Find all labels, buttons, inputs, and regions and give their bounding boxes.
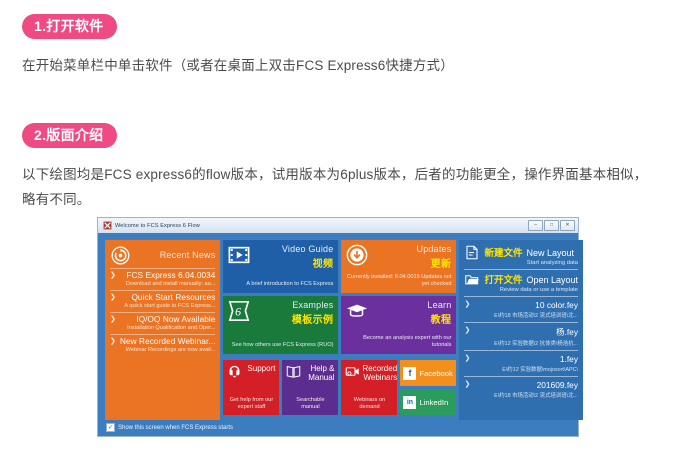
facebook-icon: f bbox=[403, 367, 416, 380]
actions-and-recent-files-panel: 新建文件 New Layout Start analyzing data bbox=[459, 240, 583, 420]
news-item-subtitle: Installation Qualification and Oper... bbox=[110, 325, 215, 331]
section-1-paragraph: 在开始菜单栏中单击软件（或者在桌面上双击FCS Express6快捷方式） bbox=[22, 53, 653, 79]
recent-file-name: 1.fey bbox=[473, 354, 578, 364]
recent-file-item[interactable]: ❯ 201609.fey E\约18 市场活动\2 流式培训班\北... bbox=[464, 378, 578, 401]
support-tile[interactable]: Support Get help from our expert staff bbox=[223, 360, 279, 415]
fcs-express-welcome-window: Welcome to FCS Express 6 Flow – □ ✕ bbox=[97, 217, 579, 437]
embedded-screenshot: Welcome to FCS Express 6 Flow – □ ✕ bbox=[97, 217, 579, 437]
welcome-screen-body: Recent News ❯ FCS Express 6.04.0034 Down… bbox=[98, 233, 578, 436]
examples-tile[interactable]: 6 Examples 模板示例 See how others use FCS E… bbox=[223, 296, 338, 354]
open-folder-icon bbox=[464, 272, 480, 287]
recent-file-path: E\约18 市场活动\2 流式培训班\北... bbox=[464, 391, 578, 399]
section-2-paragraph: 以下绘图均是FCS express6的flow版本，试用版本为6plus版本，后… bbox=[22, 162, 653, 213]
spacer bbox=[22, 79, 653, 123]
updates-learn-column: Updates 更新 Currently installed: 6.04.001… bbox=[341, 240, 456, 420]
linkedin-icon: in bbox=[403, 396, 416, 409]
section-2-badge: 2.版面介绍 bbox=[22, 123, 117, 148]
help-manual-description: Searchable manual bbox=[286, 397, 334, 412]
show-on-startup-checkbox[interactable]: ✓ bbox=[106, 423, 115, 432]
window-controls[interactable]: – □ ✕ bbox=[528, 220, 575, 231]
video-guide-description: A brief introduction to FCS Express bbox=[228, 281, 333, 289]
updates-label-cn: 更新 bbox=[368, 255, 451, 270]
headset-icon bbox=[227, 364, 242, 379]
updates-description: Currently installed: 6.04.0015 Updates n… bbox=[346, 274, 451, 289]
section-1-badge: 1.打开软件 bbox=[22, 14, 117, 39]
download-circle-icon bbox=[346, 244, 368, 266]
news-list-item[interactable]: ❯ FCS Express 6.04.0034 Download and ins… bbox=[110, 268, 215, 290]
recent-file-item[interactable]: ❯ 杨.fey E\约12 实验数据\2 抗体类\杨浩抗... bbox=[464, 324, 578, 349]
social-links: f Facebook in LinkedIn bbox=[400, 360, 456, 415]
section-1-heading: 1.打开软件 bbox=[22, 14, 653, 39]
news-item-title: IQ/OQ Now Available bbox=[120, 315, 215, 324]
news-item-subtitle: Download and install manually: au... bbox=[110, 281, 215, 287]
show-on-startup-row[interactable]: ✓ Show this screen when FCS Express star… bbox=[105, 420, 571, 433]
learn-tile[interactable]: Learn 教程 Become an analysis expert with … bbox=[341, 296, 456, 354]
news-list-item[interactable]: ❯ Quick Start Resources A quick start gu… bbox=[110, 290, 215, 312]
news-item-subtitle: A quick start guide to FCS Express... bbox=[110, 303, 215, 309]
divider bbox=[464, 322, 578, 323]
book-icon bbox=[286, 364, 301, 379]
news-item-subtitle: Webinar Recordings are now avail... bbox=[110, 347, 215, 353]
chevron-right-icon: ❯ bbox=[464, 300, 473, 309]
recent-file-name: 10 color.fey bbox=[473, 300, 578, 310]
divider bbox=[464, 296, 578, 297]
examples-description: See how others use FCS Express (RUO) bbox=[228, 342, 333, 350]
video-camera-icon bbox=[345, 364, 360, 379]
actions-panel-column: 新建文件 New Layout Start analyzing data bbox=[459, 240, 583, 420]
recent-news-title: Recent News bbox=[160, 250, 216, 260]
tile-area: Recent News ❯ FCS Express 6.04.0034 Down… bbox=[105, 240, 571, 420]
news-list-item[interactable]: ❯ IQ/OQ Now Available Installation Quali… bbox=[110, 312, 215, 334]
window-titlebar: Welcome to FCS Express 6 Flow – □ ✕ bbox=[98, 218, 578, 233]
new-layout-action[interactable]: 新建文件 New Layout Start analyzing data bbox=[464, 244, 578, 268]
news-list-item[interactable]: ❯ New Recorded Webinar... Webinar Record… bbox=[110, 334, 215, 356]
news-item-title: New Recorded Webinar... bbox=[120, 337, 215, 346]
recent-file-name: 201609.fey bbox=[473, 380, 578, 390]
close-button[interactable]: ✕ bbox=[560, 220, 575, 231]
updates-tile[interactable]: Updates 更新 Currently installed: 6.04.001… bbox=[341, 240, 456, 293]
support-description: Get help from our expert staff bbox=[227, 397, 275, 412]
section-2-heading: 2.版面介绍 bbox=[22, 123, 653, 148]
open-layout-label-en: Open Layout bbox=[526, 275, 578, 285]
updates-label-en: Updates bbox=[368, 244, 451, 254]
recorded-webinars-label: Recorded Webinars bbox=[362, 364, 397, 382]
examples-label-cn: 模板示例 bbox=[250, 311, 333, 326]
chevron-right-icon: ❯ bbox=[464, 354, 473, 363]
new-layout-label-en: New Layout bbox=[526, 248, 574, 258]
recent-file-path: E\约12 实验数据\mojosort\APC\ bbox=[464, 365, 578, 373]
news-item-title: Quick Start Resources bbox=[120, 293, 215, 302]
recent-news-column: Recent News ❯ FCS Express 6.04.0034 Down… bbox=[105, 240, 220, 420]
support-help-row: Support Get help from our expert staff bbox=[223, 360, 338, 415]
recent-file-path: E\约12 实验数据\2 抗体类\杨浩抗... bbox=[464, 339, 578, 347]
divider bbox=[464, 350, 578, 351]
recorded-webinars-tile[interactable]: Recorded Webinars Webinars on demand bbox=[341, 360, 397, 415]
window-title: Welcome to FCS Express 6 Flow bbox=[115, 223, 200, 229]
six-badge-icon: 6 bbox=[228, 300, 250, 322]
open-layout-label-cn: 打开文件 bbox=[484, 272, 522, 286]
app-icon bbox=[103, 221, 112, 230]
chevron-right-icon: ❯ bbox=[110, 337, 120, 346]
facebook-label: Facebook bbox=[419, 369, 452, 378]
recent-file-name: 杨.fey bbox=[473, 326, 578, 338]
video-guide-label-en: Video Guide bbox=[250, 244, 333, 254]
chevron-right-icon: ❯ bbox=[464, 326, 473, 335]
maximize-button[interactable]: □ bbox=[544, 220, 559, 231]
learn-description: Become an analysis expert with our tutor… bbox=[346, 335, 451, 350]
learn-label-en: Learn bbox=[368, 300, 451, 310]
webinars-social-row: Recorded Webinars Webinars on demand f F… bbox=[341, 360, 456, 415]
help-manual-label: Help & Manual bbox=[303, 364, 334, 382]
chevron-right-icon: ❯ bbox=[110, 271, 120, 280]
video-guide-tile[interactable]: Video Guide 视频 A brief introduction to F… bbox=[223, 240, 338, 293]
show-on-startup-label: Show this screen when FCS Express starts bbox=[118, 425, 233, 431]
open-layout-action[interactable]: 打开文件 Open Layout Review data or use a te… bbox=[464, 271, 578, 295]
linkedin-label: LinkedIn bbox=[419, 398, 448, 407]
chevron-right-icon: ❯ bbox=[110, 315, 120, 324]
new-document-icon bbox=[464, 245, 480, 260]
video-guide-label-cn: 视频 bbox=[250, 255, 333, 270]
svg-text:6: 6 bbox=[236, 305, 242, 319]
examples-label-en: Examples bbox=[250, 300, 333, 310]
recent-file-item[interactable]: ❯ 10 color.fey E\约18 市场活动\2 流式培训班\北... bbox=[464, 298, 578, 321]
refresh-icon bbox=[111, 246, 130, 265]
chevron-right-icon: ❯ bbox=[464, 380, 473, 389]
open-layout-subtitle: Review data or use a template bbox=[484, 287, 578, 293]
recent-file-item[interactable]: ❯ 1.fey E\约12 实验数据\mojosort\APC\ bbox=[464, 352, 578, 375]
minimize-button[interactable]: – bbox=[528, 220, 543, 231]
new-layout-label-cn: 新建文件 bbox=[484, 245, 522, 259]
support-label: Support bbox=[244, 364, 275, 373]
divider bbox=[464, 269, 578, 270]
recent-news-tile[interactable]: Recent News ❯ FCS Express 6.04.0034 Down… bbox=[105, 240, 220, 420]
video-examples-column: Video Guide 视频 A brief introduction to F… bbox=[223, 240, 338, 420]
film-play-icon bbox=[228, 244, 250, 266]
facebook-tile[interactable]: f Facebook bbox=[400, 360, 456, 386]
recent-news-header: Recent News bbox=[110, 244, 215, 266]
linkedin-tile[interactable]: in LinkedIn bbox=[400, 389, 456, 415]
news-item-title: FCS Express 6.04.0034 bbox=[120, 271, 215, 280]
help-manual-tile[interactable]: Help & Manual Searchable manual bbox=[282, 360, 338, 415]
divider bbox=[464, 376, 578, 377]
article-body: 1.打开软件 在开始菜单栏中单击软件（或者在桌面上双击FCS Express6快… bbox=[0, 0, 675, 213]
chevron-right-icon: ❯ bbox=[110, 293, 120, 302]
new-layout-subtitle: Start analyzing data bbox=[484, 260, 578, 266]
recorded-webinars-description: Webinars on demand bbox=[345, 397, 393, 412]
recent-file-path: E\约18 市场活动\2 流式培训班\北... bbox=[464, 311, 578, 319]
graduation-cap-icon bbox=[346, 300, 368, 322]
learn-label-cn: 教程 bbox=[368, 311, 451, 326]
